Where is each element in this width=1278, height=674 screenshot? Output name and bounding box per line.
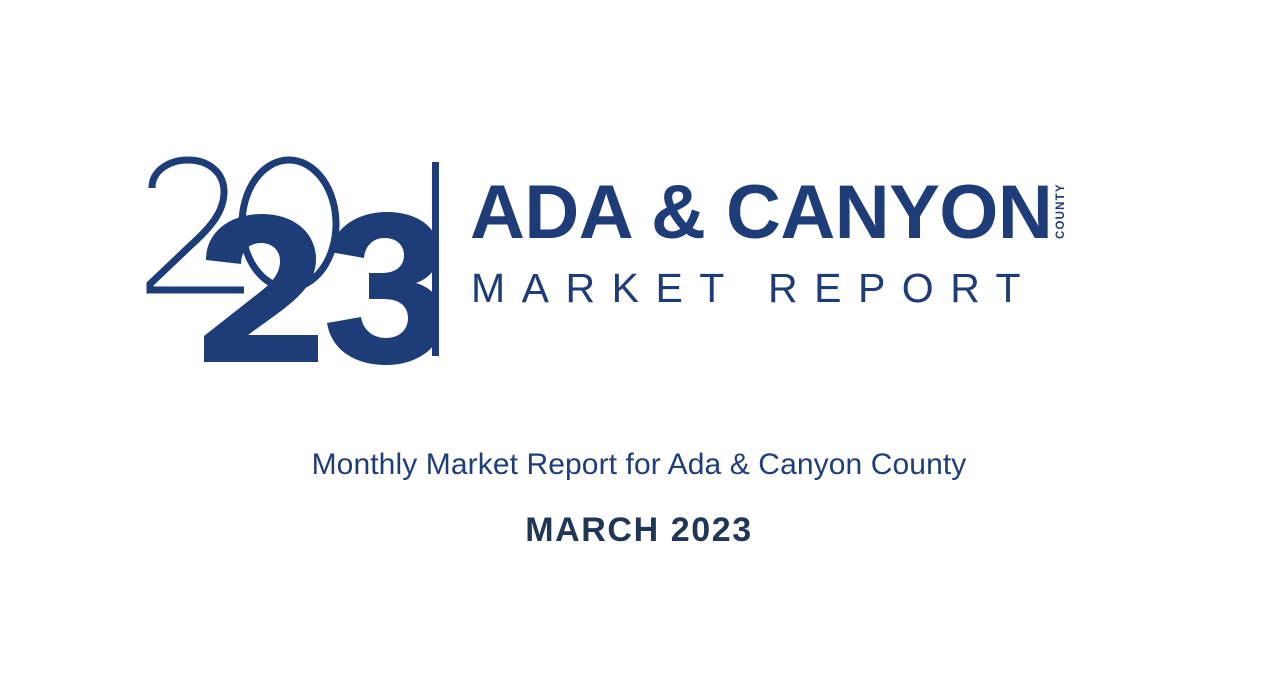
- logo-inner: ADA & CANYON COUNTY MARKET REPORT: [144, 150, 1134, 365]
- logo-county-tag: COUNTY: [1056, 182, 1068, 240]
- wordmark-top-row: ADA & CANYON COUNTY: [470, 180, 1068, 242]
- logo-subtitle: MARKET REPORT: [471, 268, 1037, 309]
- report-month: MARCH 2023: [0, 510, 1278, 551]
- logo-wordmark: ADA & CANYON COUNTY MARKET REPORT: [470, 150, 1134, 365]
- cover-page: ADA & CANYON COUNTY MARKET REPORT Monthl…: [0, 0, 1278, 674]
- cover-subtitle: Monthly Market Report for Ada & Canyon C…: [0, 447, 1278, 483]
- year-2023-svg: [144, 150, 434, 365]
- year-2023-mark: [144, 150, 434, 365]
- logo-title: ADA & CANYON: [470, 183, 1052, 242]
- logo-divider: [432, 162, 439, 356]
- market-report-logo: ADA & CANYON COUNTY MARKET REPORT: [0, 150, 1278, 365]
